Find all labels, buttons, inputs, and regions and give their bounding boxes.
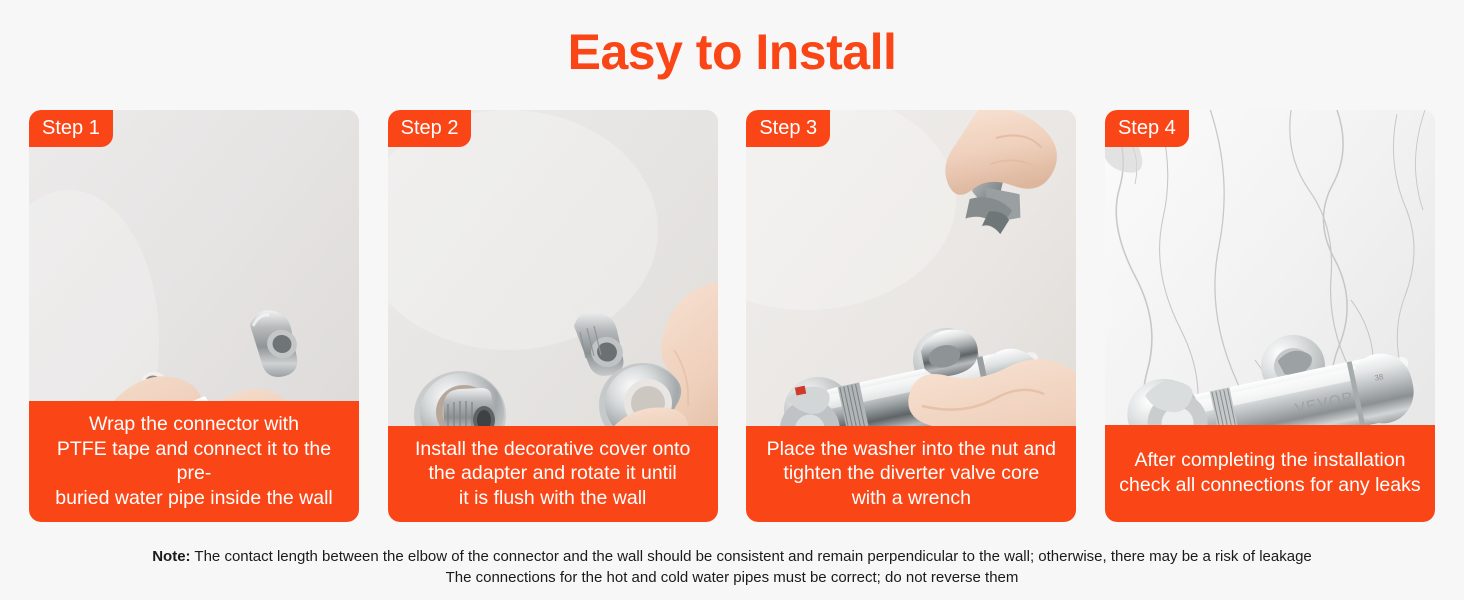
step-caption-4: After completing the installation check … [1105,425,1435,522]
page-title: Easy to Install [0,22,1464,82]
caption-line: Install the decorative cover onto [396,437,710,462]
step-card-1[interactable]: Step 1 Wrap the connector with PTFE tape… [29,110,359,522]
caption-line: Wrap the connector with [37,412,351,437]
step-caption-1: Wrap the connector with PTFE tape and co… [29,401,359,522]
step-card-4[interactable]: VEVOR 38 [1105,110,1435,522]
caption-line: with a wrench [754,486,1068,511]
step-caption-2: Install the decorative cover onto the ad… [388,426,718,523]
steps-row: Step 1 Wrap the connector with PTFE tape… [29,110,1435,522]
step-badge-1: Step 1 [29,110,113,147]
note-line-2: The connections for the hot and cold wat… [0,567,1464,588]
step-badge-2: Step 2 [388,110,472,147]
step-badge-3: Step 3 [746,110,830,147]
caption-line: buried water pipe inside the wall [37,486,351,511]
footer-note: Note: The contact length between the elb… [0,546,1464,588]
note-line-1-text: The contact length between the elbow of … [191,548,1312,565]
note-line-1: Note: The contact length between the elb… [0,546,1464,567]
caption-line: tighten the diverter valve core [754,461,1068,486]
caption-line: it is flush with the wall [396,486,710,511]
step-card-2[interactable]: Step 2 Install the decorative cover onto… [388,110,718,522]
step-caption-3: Place the washer into the nut and tighte… [746,426,1076,523]
step-badge-4: Step 4 [1105,110,1189,147]
caption-line: After completing the installation [1113,448,1427,473]
note-label: Note: [152,548,190,565]
caption-line: PTFE tape and connect it to the pre- [37,437,351,486]
caption-line: Place the washer into the nut and [754,437,1068,462]
caption-line: the adapter and rotate it until [396,461,710,486]
caption-line: check all connections for any leaks [1113,473,1427,498]
step-card-3[interactable]: 38 50 [746,110,1076,522]
